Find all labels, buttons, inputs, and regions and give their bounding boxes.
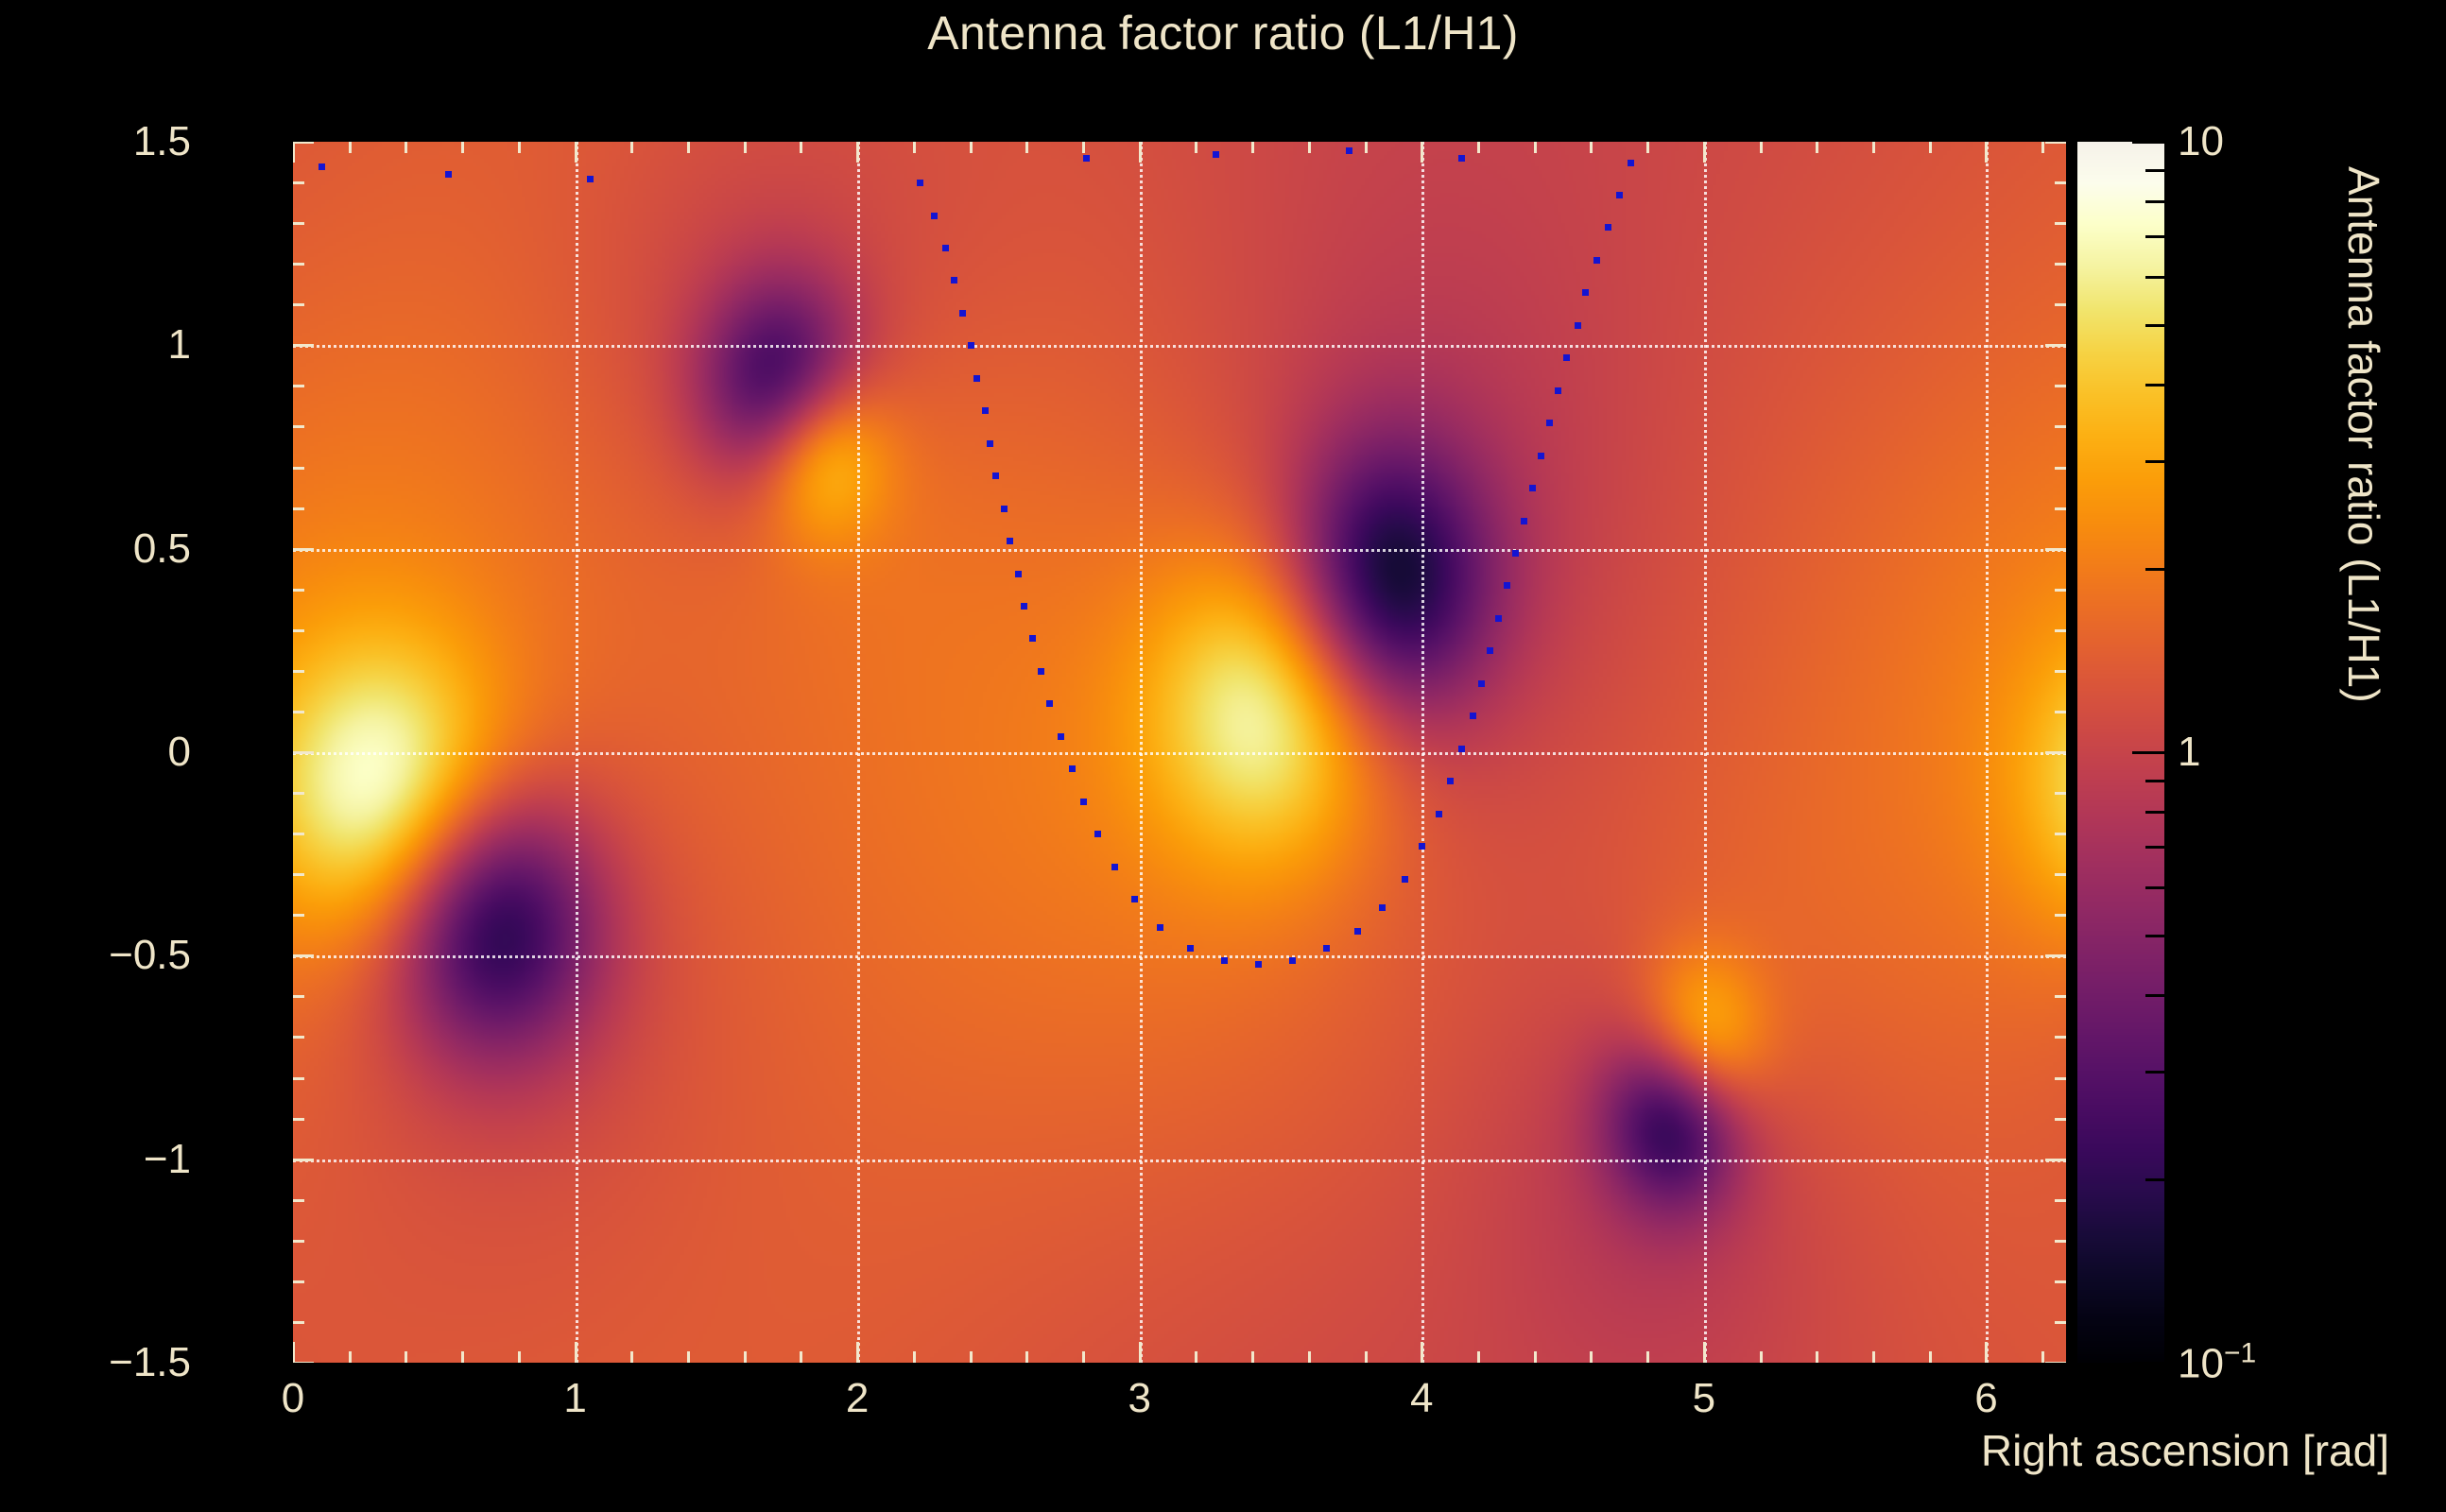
y-axis-tick-label: −1.5 xyxy=(109,1339,191,1386)
x-axis-tick-label: 2 xyxy=(846,1375,869,1422)
colorbar-title: Antenna factor ratio (L1/H1) xyxy=(2338,166,2389,703)
y-axis-tick-label: 1 xyxy=(168,321,191,369)
x-axis-tick-label: 6 xyxy=(1974,1375,1997,1422)
colorbar-tick-label: 10−1 xyxy=(2178,1338,2256,1388)
y-axis-tick-label: 1.5 xyxy=(133,118,191,165)
x-axis-tick-label: 4 xyxy=(1410,1375,1433,1422)
x-axis-tick-label: 3 xyxy=(1128,1375,1150,1422)
x-axis-tick-label: 5 xyxy=(1693,1375,1715,1422)
colorbar[interactable] xyxy=(2077,142,2164,1363)
colorbar-tick-label: 10 xyxy=(2178,118,2224,165)
page-title: Antenna factor ratio (L1/H1) xyxy=(0,8,2446,60)
x-axis-tick-label: 1 xyxy=(563,1375,586,1422)
x-axis-tick-label: 0 xyxy=(282,1375,304,1422)
y-axis-tick-label: 0 xyxy=(168,729,191,776)
y-axis-tick-label: 0.5 xyxy=(133,525,191,573)
figure-canvas: Antenna factor ratio (L1/H1) 0123456 1.5… xyxy=(0,0,2446,1512)
colorbar-tick-label: 1 xyxy=(2178,729,2200,776)
x-axis-title: Right ascension [rad] xyxy=(1981,1425,2389,1476)
y-axis-tick-label: −1 xyxy=(144,1136,191,1183)
heatmap-plot-area[interactable] xyxy=(293,142,2066,1363)
y-axis-tick-label: −0.5 xyxy=(109,932,191,979)
heatmap-image xyxy=(293,142,2066,1363)
